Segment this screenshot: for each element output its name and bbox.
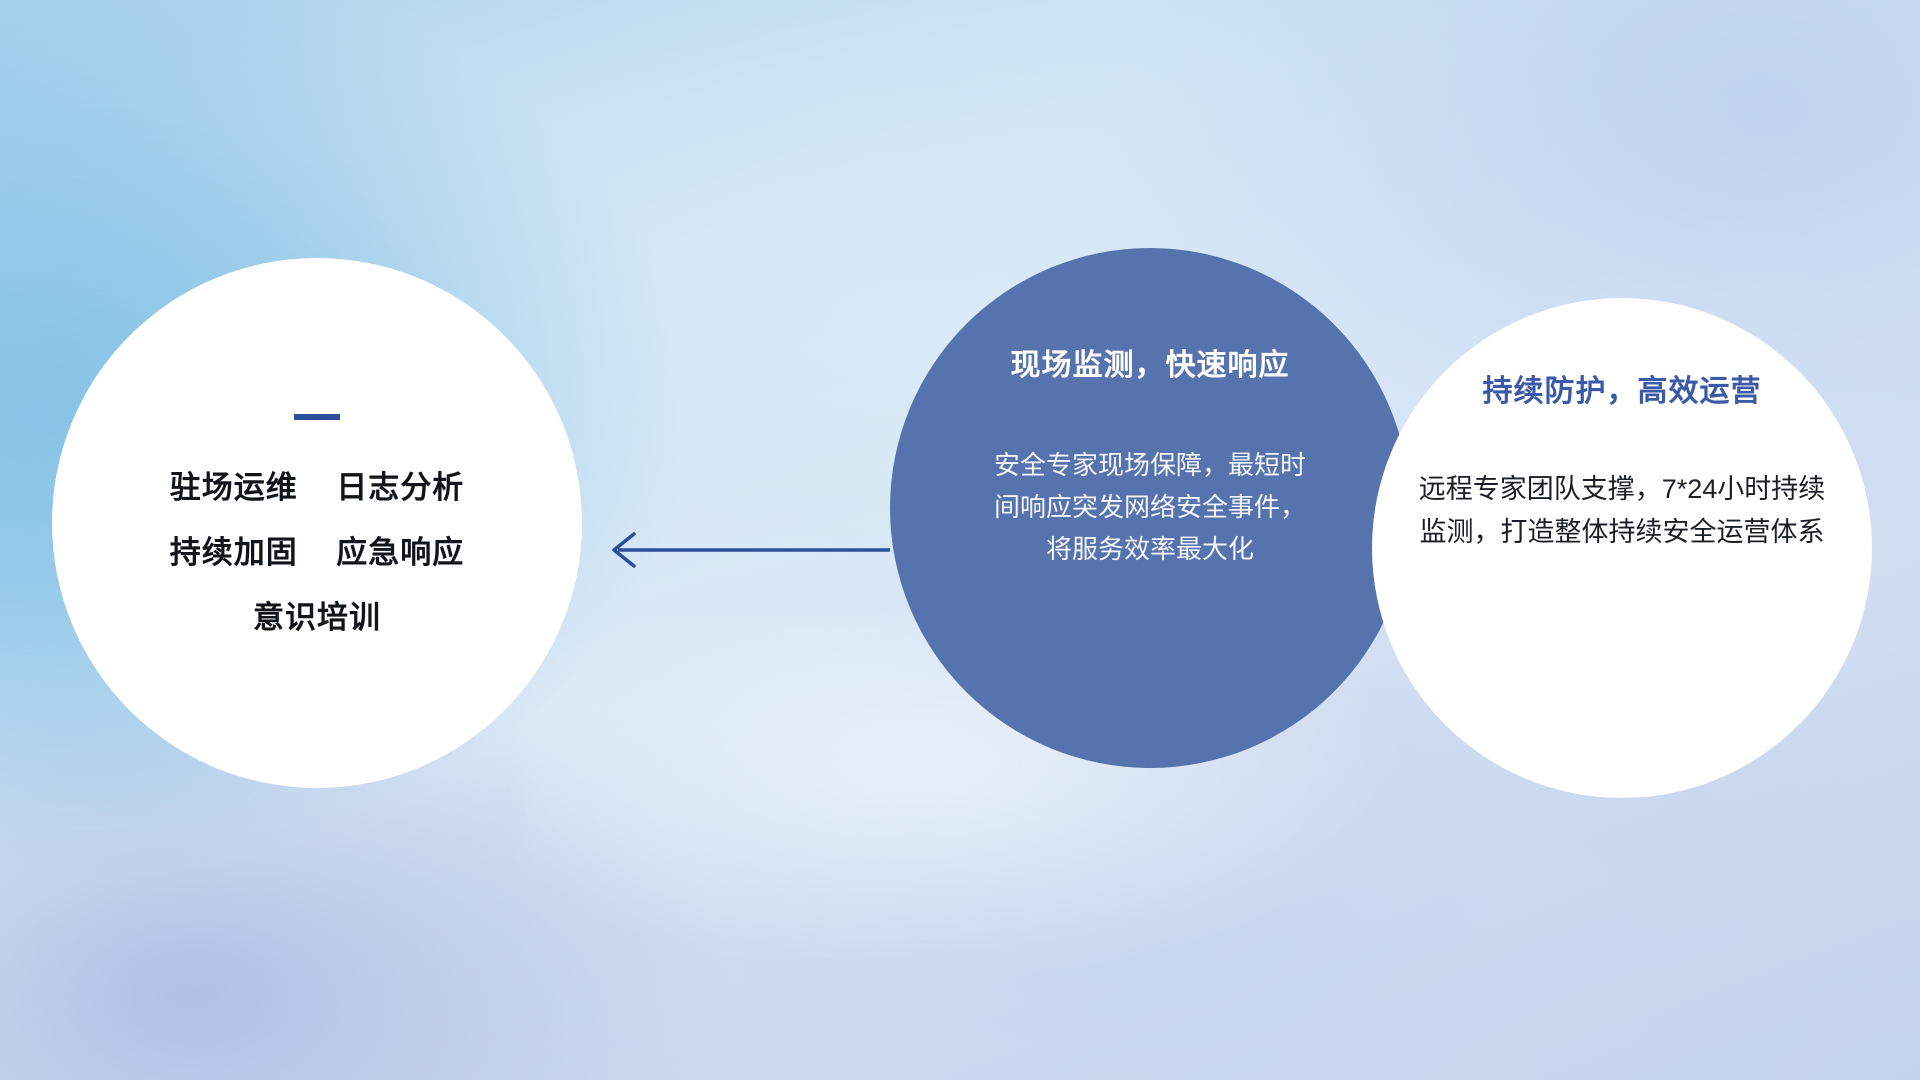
- middle-blue-circle[interactable]: 现场监测，快速响应 安全专家现场保障，最短时间响应突发网络安全事件，将服务效率最…: [890, 248, 1410, 768]
- divider-dash: [294, 414, 340, 420]
- connector-arrow-left-icon: [590, 520, 890, 580]
- middle-circle-body: 安全专家现场保障，最短时间响应突发网络安全事件，将服务效率最大化: [985, 444, 1315, 570]
- left-circle-line: 驻场运维 日志分析: [170, 472, 464, 503]
- right-circle-body: 远程专家团队支撑，7*24小时持续监测，打造整体持续安全运营体系: [1412, 468, 1832, 554]
- right-circle-title: 持续防护，高效运营: [1483, 366, 1762, 410]
- right-white-circle[interactable]: 持续防护，高效运营 远程专家团队支撑，7*24小时持续监测，打造整体持续安全运营…: [1372, 298, 1872, 798]
- middle-circle-title: 现场监测，快速响应: [1011, 340, 1290, 384]
- left-circle-line: 持续加固 应急响应: [170, 537, 464, 568]
- slide-canvas: 现场监测，快速响应 安全专家现场保障，最短时间响应突发网络安全事件，将服务效率最…: [0, 0, 1920, 1080]
- left-circle-line: 意识培训: [253, 602, 381, 633]
- left-white-circle[interactable]: 驻场运维 日志分析 持续加固 应急响应 意识培训: [52, 258, 582, 788]
